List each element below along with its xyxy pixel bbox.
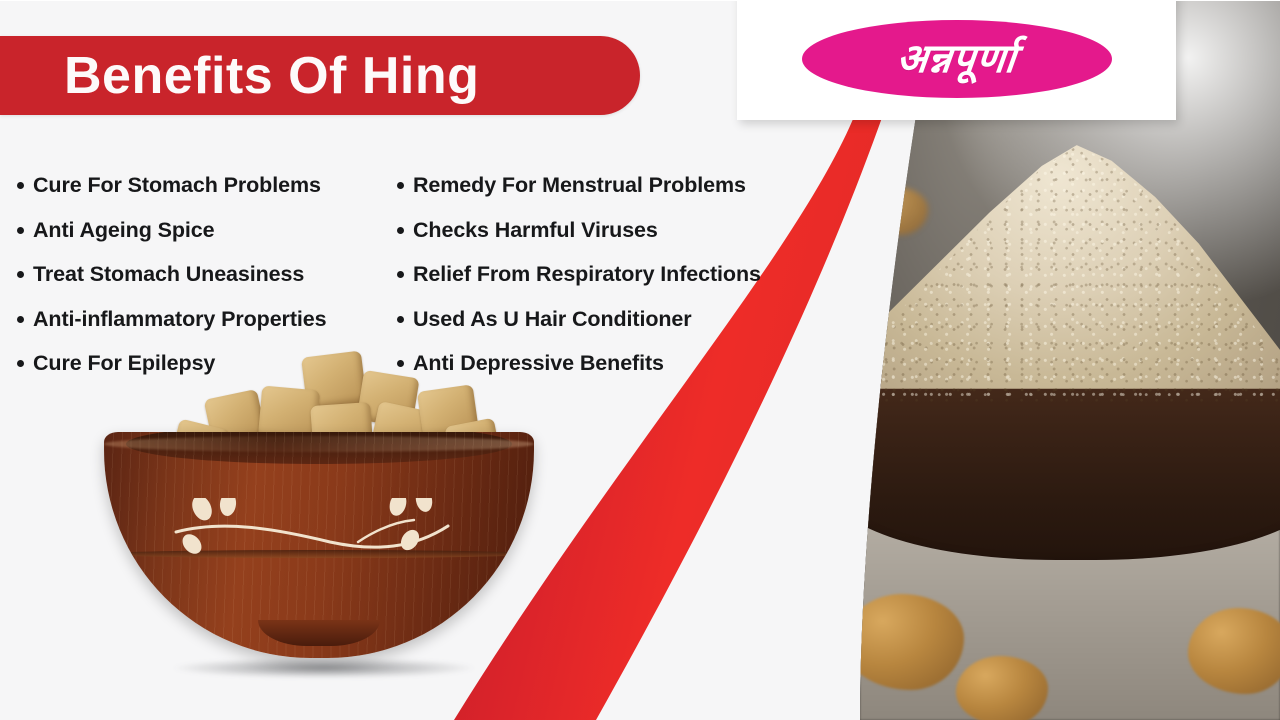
benefit-label: Anti Ageing Spice	[33, 217, 214, 243]
benefits-column-right: Remedy For Menstrual Problems Checks Har…	[397, 172, 842, 395]
hing-cubes-bowl-photo	[104, 352, 534, 684]
benefit-label: Checks Harmful Viruses	[413, 217, 658, 243]
bullet-dot-icon	[17, 360, 24, 367]
benefit-label: Cure For Stomach Problems	[33, 172, 321, 198]
carved-wooden-bowl	[104, 432, 534, 658]
bullet-dot-icon	[397, 316, 404, 323]
list-item: Cure For Stomach Problems	[17, 172, 397, 217]
bullet-dot-icon	[397, 271, 404, 278]
benefit-label: Cure For Epilepsy	[33, 350, 215, 376]
bullet-dot-icon	[397, 360, 404, 367]
list-item: Anti Depressive Benefits	[397, 350, 842, 395]
brand-name: अन्नपूर्णा	[895, 39, 1019, 79]
benefit-label: Relief From Respiratory Infections	[413, 261, 761, 287]
bowl-drop-shadow	[174, 658, 474, 678]
bowl-floral-inlay	[162, 498, 462, 570]
list-item: Treat Stomach Uneasiness	[17, 261, 397, 306]
brand-logo-ellipse: अन्नपूर्णा	[802, 20, 1112, 98]
list-item: Relief From Respiratory Infections	[397, 261, 842, 306]
benefit-label: Anti-inflammatory Properties	[33, 306, 326, 332]
benefit-label: Remedy For Menstrual Problems	[413, 172, 746, 198]
benefit-label: Used As U Hair Conditioner	[413, 306, 692, 332]
list-item: Used As U Hair Conditioner	[397, 306, 842, 351]
list-item: Cure For Epilepsy	[17, 350, 397, 395]
bullet-dot-icon	[17, 227, 24, 234]
bullet-dot-icon	[17, 271, 24, 278]
hing-resin-chunk-background	[866, 187, 928, 235]
poster-canvas: Benefits Of Hing अन्नपूर्णा Cure For Sto…	[0, 0, 1280, 720]
list-item: Remedy For Menstrual Problems	[397, 172, 842, 217]
bullet-dot-icon	[397, 227, 404, 234]
page-title: Benefits Of Hing	[0, 50, 479, 102]
list-item: Anti Ageing Spice	[17, 217, 397, 262]
hing-resin-chunk-center	[956, 656, 1048, 720]
bullet-dot-icon	[17, 316, 24, 323]
bullet-dot-icon	[397, 182, 404, 189]
bullet-dot-icon	[17, 182, 24, 189]
brand-logo-card: अन्नपूर्णा	[737, 0, 1176, 120]
benefits-column-left: Cure For Stomach Problems Anti Ageing Sp…	[17, 172, 397, 395]
top-edge-line	[0, 0, 1280, 1]
list-item: Checks Harmful Viruses	[397, 217, 842, 262]
benefit-label: Treat Stomach Uneasiness	[33, 261, 304, 287]
benefit-label: Anti Depressive Benefits	[413, 350, 664, 376]
title-banner: Benefits Of Hing	[0, 36, 640, 115]
list-item: Anti-inflammatory Properties	[17, 306, 397, 351]
